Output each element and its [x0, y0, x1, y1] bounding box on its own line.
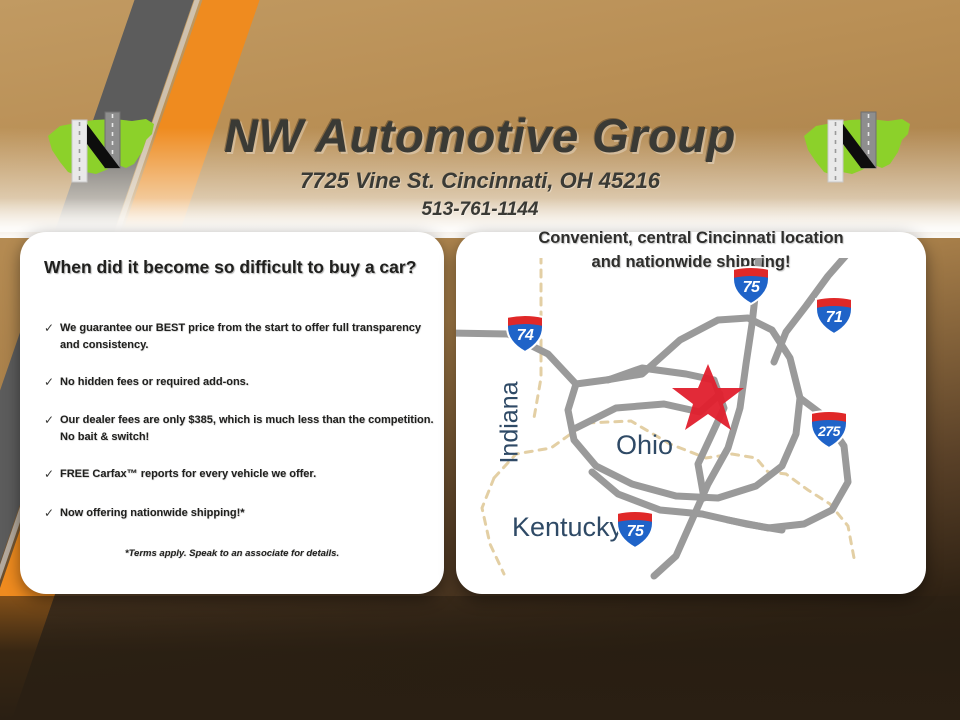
check-icon: ✓ [38, 505, 60, 522]
shield-number: 71 [813, 309, 855, 327]
list-item: ✓ FREE Carfax™ reports for every vehicle… [38, 466, 434, 483]
check-icon: ✓ [38, 466, 60, 483]
brand-phone: 513-761-1144 [0, 199, 960, 221]
interstate-shield-74: 74 [504, 314, 546, 354]
value-proposition-panel: When did it become so difficult to buy a… [20, 232, 444, 594]
terms-footnote: *Terms apply. Speak to an associate for … [20, 548, 444, 559]
list-item: ✓ Now offering nationwide shipping!* [38, 505, 434, 522]
brand-title: NW Automotive Group [0, 108, 960, 163]
list-item: ✓ We guarantee our BEST price from the s… [38, 320, 434, 353]
interstate-shield-71: 71 [813, 296, 855, 336]
list-item-text: Our dealer fees are only $385, which is … [60, 412, 434, 445]
check-icon: ✓ [38, 320, 60, 353]
interstate-shield-75-south: 75 [614, 510, 656, 550]
list-item-text: FREE Carfax™ reports for every vehicle w… [60, 466, 434, 483]
list-item: ✓ No hidden fees or required add-ons. [38, 374, 434, 391]
regional-map: Indiana Ohio Kentucky 75 71 [456, 258, 926, 588]
map-heading-line-1: Convenient, central Cincinnati location [466, 227, 916, 251]
list-item-text: We guarantee our BEST price from the sta… [60, 320, 434, 353]
slide-canvas: NW Automotive Group 7725 Vine St. Cincin… [0, 0, 960, 720]
benefit-list: ✓ We guarantee our BEST price from the s… [38, 320, 434, 543]
check-icon: ✓ [38, 412, 60, 445]
state-label-ohio: Ohio [616, 430, 673, 461]
bottom-dark-gradient [0, 596, 960, 720]
brand-address: 7725 Vine St. Cincinnati, OH 45216 [0, 168, 960, 194]
list-item: ✓ Our dealer fees are only $385, which i… [38, 412, 434, 445]
shield-number: 275 [808, 423, 850, 439]
location-map-panel: Convenient, central Cincinnati location … [456, 232, 926, 594]
shield-number: 75 [614, 523, 656, 541]
shield-number: 74 [504, 327, 546, 345]
check-icon: ✓ [38, 374, 60, 391]
interstate-shield-275: 275 [808, 410, 850, 450]
list-item-text: Now offering nationwide shipping!* [60, 505, 434, 522]
state-label-indiana: Indiana [496, 363, 525, 483]
shield-number: 75 [730, 279, 772, 297]
panel-heading: When did it become so difficult to buy a… [44, 256, 422, 280]
list-item-text: No hidden fees or required add-ons. [60, 374, 434, 391]
interstate-shield-75-north: 75 [730, 266, 772, 306]
state-label-kentucky: Kentucky [512, 512, 623, 543]
